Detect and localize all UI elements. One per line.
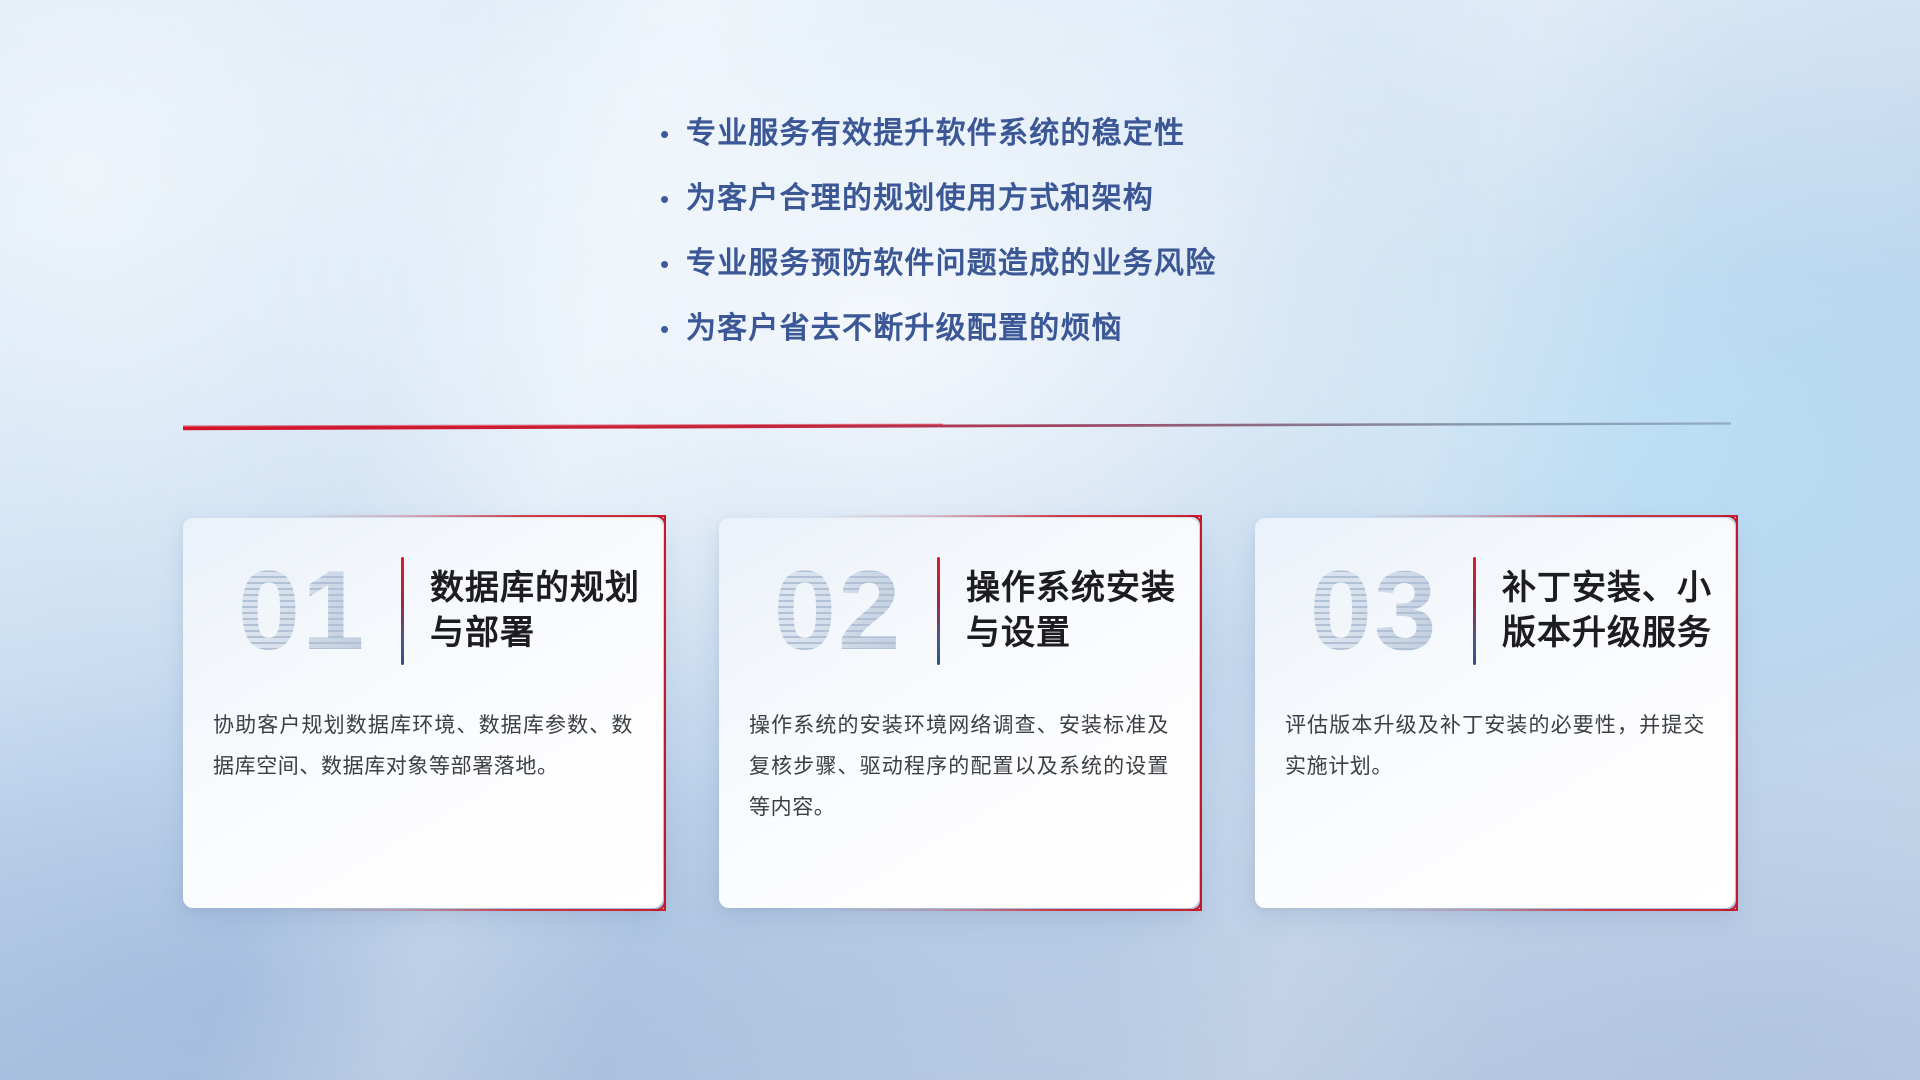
bullet-text: 为客户合理的规划使用方式和架构	[686, 173, 1154, 217]
bullet-dot-icon: •	[660, 186, 686, 212]
card-description: 协助客户规划数据库环境、数据库参数、数据库空间、数据库对象等部署落地。	[213, 706, 633, 788]
bullet-text: 专业服务预防软件问题造成的业务风险	[686, 238, 1216, 282]
bullet-dot-icon: •	[660, 316, 686, 342]
benefits-bullet-list: • 专业服务有效提升软件系统的稳定性 • 为客户合理的规划使用方式和架构 • 专…	[660, 108, 1420, 368]
card-header: 01 数据库的规划与部署	[183, 536, 663, 686]
card-title: 数据库的规划与部署	[430, 566, 662, 656]
card-header: 03 补丁安装、小版本升级服务	[1255, 536, 1735, 686]
list-item: • 为客户合理的规划使用方式和架构	[660, 173, 1420, 238]
list-item: • 专业服务预防软件问题造成的业务风险	[660, 238, 1420, 303]
card-number-watermark: 01	[209, 546, 395, 676]
card-header: 02 操作系统安装与设置	[719, 536, 1199, 686]
card-title: 操作系统安装与设置	[966, 566, 1198, 656]
bullet-dot-icon: •	[660, 251, 686, 277]
list-item: • 为客户省去不断升级配置的烦恼	[660, 303, 1420, 368]
service-card[interactable]: 02 操作系统安装与设置 操作系统的安装环境网络调查、安装标准及复核步骤、驱动程…	[719, 518, 1199, 908]
section-divider	[183, 414, 1731, 436]
service-card[interactable]: 01 数据库的规划与部署 协助客户规划数据库环境、数据库参数、数据库空间、数据库…	[183, 518, 663, 908]
card-number-watermark: 02	[745, 546, 931, 676]
card-number-watermark: 03	[1281, 546, 1467, 676]
card-divider-bar	[937, 557, 940, 665]
divider-shape-icon	[183, 414, 1731, 436]
card-divider-bar	[1473, 557, 1476, 665]
bullet-text: 专业服务有效提升软件系统的稳定性	[686, 108, 1185, 152]
bullet-text: 为客户省去不断升级配置的烦恼	[686, 303, 1123, 347]
card-description: 评估版本升级及补丁安装的必要性，并提交实施计划。	[1285, 706, 1705, 788]
service-card-list: 01 数据库的规划与部署 协助客户规划数据库环境、数据库参数、数据库空间、数据库…	[183, 518, 1737, 908]
card-title: 补丁安装、小版本升级服务	[1502, 566, 1734, 656]
list-item: • 专业服务有效提升软件系统的稳定性	[660, 108, 1420, 173]
bullet-dot-icon: •	[660, 121, 686, 147]
service-card[interactable]: 03 补丁安装、小版本升级服务 评估版本升级及补丁安装的必要性，并提交实施计划。	[1255, 518, 1735, 908]
card-divider-bar	[401, 557, 404, 665]
slide-canvas: • 专业服务有效提升软件系统的稳定性 • 为客户合理的规划使用方式和架构 • 专…	[0, 0, 1920, 1080]
card-description: 操作系统的安装环境网络调查、安装标准及复核步骤、驱动程序的配置以及系统的设置等内…	[749, 706, 1169, 829]
